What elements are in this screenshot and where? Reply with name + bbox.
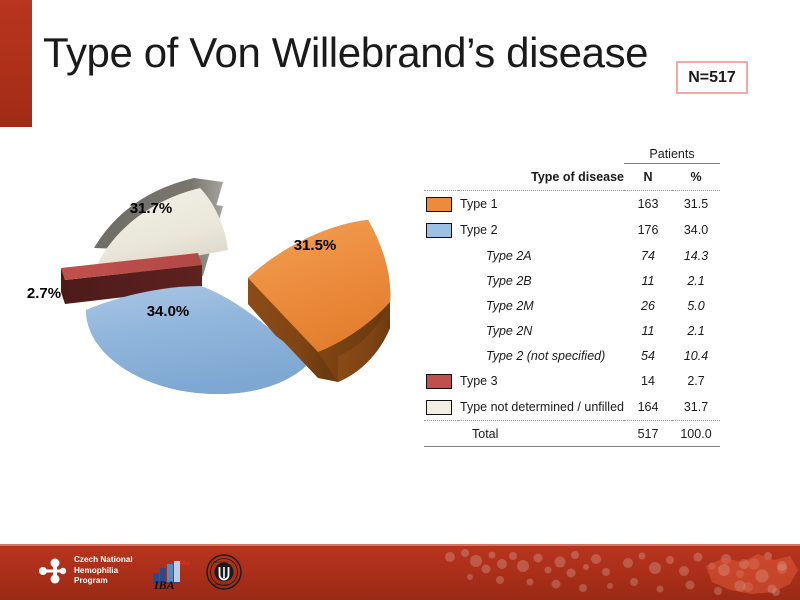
legend-swatch-cell: [424, 217, 458, 243]
row-label: Type 2A: [458, 243, 624, 268]
row-pct: 31.5: [672, 191, 720, 218]
table-group-header-row: Patients: [424, 146, 720, 164]
pie-chart-svg: 31.7% 2.7% 34.0% 31.5%: [18, 160, 418, 460]
row-label: Type 2M: [458, 293, 624, 318]
molecule-icon: [38, 556, 68, 586]
legend-swatch-type3: [426, 374, 452, 389]
table-row[interactable]: Type 2M 26 5.0: [424, 293, 720, 318]
row-n: 164: [624, 394, 672, 421]
iba-logo: MU IBA: [150, 556, 194, 589]
legend-swatch-type1: [426, 197, 452, 212]
row-pct: 2.1: [672, 268, 720, 293]
svg-text:MASARYKIANA: MASARYKIANA: [213, 583, 229, 586]
table-header-row: Type of disease N %: [424, 164, 720, 191]
legend-swatch-cell: [424, 421, 458, 447]
page-title: Type of Von Willebrand’s disease: [43, 26, 648, 80]
row-pct: 2.7: [672, 368, 720, 394]
row-label: Type 1: [458, 191, 624, 218]
table-row[interactable]: Type not determined / unfilled 164 31.7: [424, 394, 720, 421]
row-pct: 34.0: [672, 217, 720, 243]
row-label: Type 2B: [458, 268, 624, 293]
row-label: Type 2 (not specified): [458, 343, 624, 368]
cnhp-label: Czech National Hemophilia Program: [74, 555, 133, 587]
legend-swatch-unfilled: [426, 400, 452, 415]
table-row[interactable]: Type 2N 11 2.1: [424, 318, 720, 343]
pie-chart: 31.7% 2.7% 34.0% 31.5%: [18, 160, 418, 460]
table-row[interactable]: Type 3 14 2.7: [424, 368, 720, 394]
row-n: 14: [624, 368, 672, 394]
table-row[interactable]: Type 2B 11 2.1: [424, 268, 720, 293]
legend-swatch-cell: [424, 368, 458, 394]
svg-text:UNIVERSITAS: UNIVERSITAS: [213, 561, 227, 564]
legend-swatch-cell: [424, 394, 458, 421]
row-pct: 5.0: [672, 293, 720, 318]
table-total-row: Total 517 100.0: [424, 421, 720, 447]
row-pct: 31.7: [672, 394, 720, 421]
total-pct: 100.0: [672, 421, 720, 447]
table-row[interactable]: Type 2 (not specified) 54 10.4: [424, 343, 720, 368]
header-percent: %: [672, 164, 720, 191]
footer-bar: Czech National Hemophilia Program MU IBA…: [0, 544, 800, 600]
header-swatch-cell: [424, 164, 458, 191]
row-n: 163: [624, 191, 672, 218]
table-row[interactable]: Type 2 176 34.0: [424, 217, 720, 243]
legend-swatch-cell: [424, 318, 458, 343]
row-n: 54: [624, 343, 672, 368]
cnhp-logo: Czech National Hemophilia Program: [38, 555, 133, 587]
pie-label-unfilled: 31.7%: [130, 200, 173, 217]
svg-text:IBA: IBA: [153, 578, 175, 589]
group-header-patients: Patients: [624, 146, 720, 164]
legend-swatch-cell: [424, 191, 458, 218]
pie-label-type3: 2.7%: [27, 285, 61, 302]
row-n: 11: [624, 318, 672, 343]
svg-text:MU: MU: [180, 561, 189, 567]
total-n: 517: [624, 421, 672, 447]
spacer-cell: [458, 146, 624, 164]
row-label: Type 2: [458, 217, 624, 243]
table-row[interactable]: Type 1 163 31.5: [424, 191, 720, 218]
row-pct: 2.1: [672, 318, 720, 343]
legend-swatch-cell: [424, 343, 458, 368]
table-row[interactable]: Type 2A 74 14.3: [424, 243, 720, 268]
legend-swatch-type2: [426, 223, 452, 238]
masaryk-university-seal-icon: UNIVERSITAS MASARYKIANA: [206, 554, 242, 590]
row-n: 11: [624, 268, 672, 293]
slide: Type of Von Willebrand’s disease N=517: [0, 0, 800, 600]
pie-label-type2: 34.0%: [147, 303, 190, 320]
legend-swatch-cell: [424, 293, 458, 318]
disease-type-table: Patients Type of disease N % Type 1 163 …: [424, 146, 720, 447]
row-n: 176: [624, 217, 672, 243]
title-accent-bar: [0, 0, 32, 127]
row-label: Type not determined / unfilled: [458, 394, 624, 421]
row-n: 74: [624, 243, 672, 268]
row-n: 26: [624, 293, 672, 318]
total-label: Total: [458, 421, 624, 447]
row-label: Type 3: [458, 368, 624, 394]
legend-swatch-cell: [424, 268, 458, 293]
header-n: N: [624, 164, 672, 191]
row-pct: 14.3: [672, 243, 720, 268]
sample-size-badge: N=517: [676, 61, 748, 94]
legend-swatch-cell: [424, 243, 458, 268]
spacer-cell: [424, 146, 458, 164]
row-pct: 10.4: [672, 343, 720, 368]
row-label: Type 2N: [458, 318, 624, 343]
pie-label-type1: 31.5%: [294, 237, 337, 254]
header-type-of-disease: Type of disease: [458, 164, 624, 191]
